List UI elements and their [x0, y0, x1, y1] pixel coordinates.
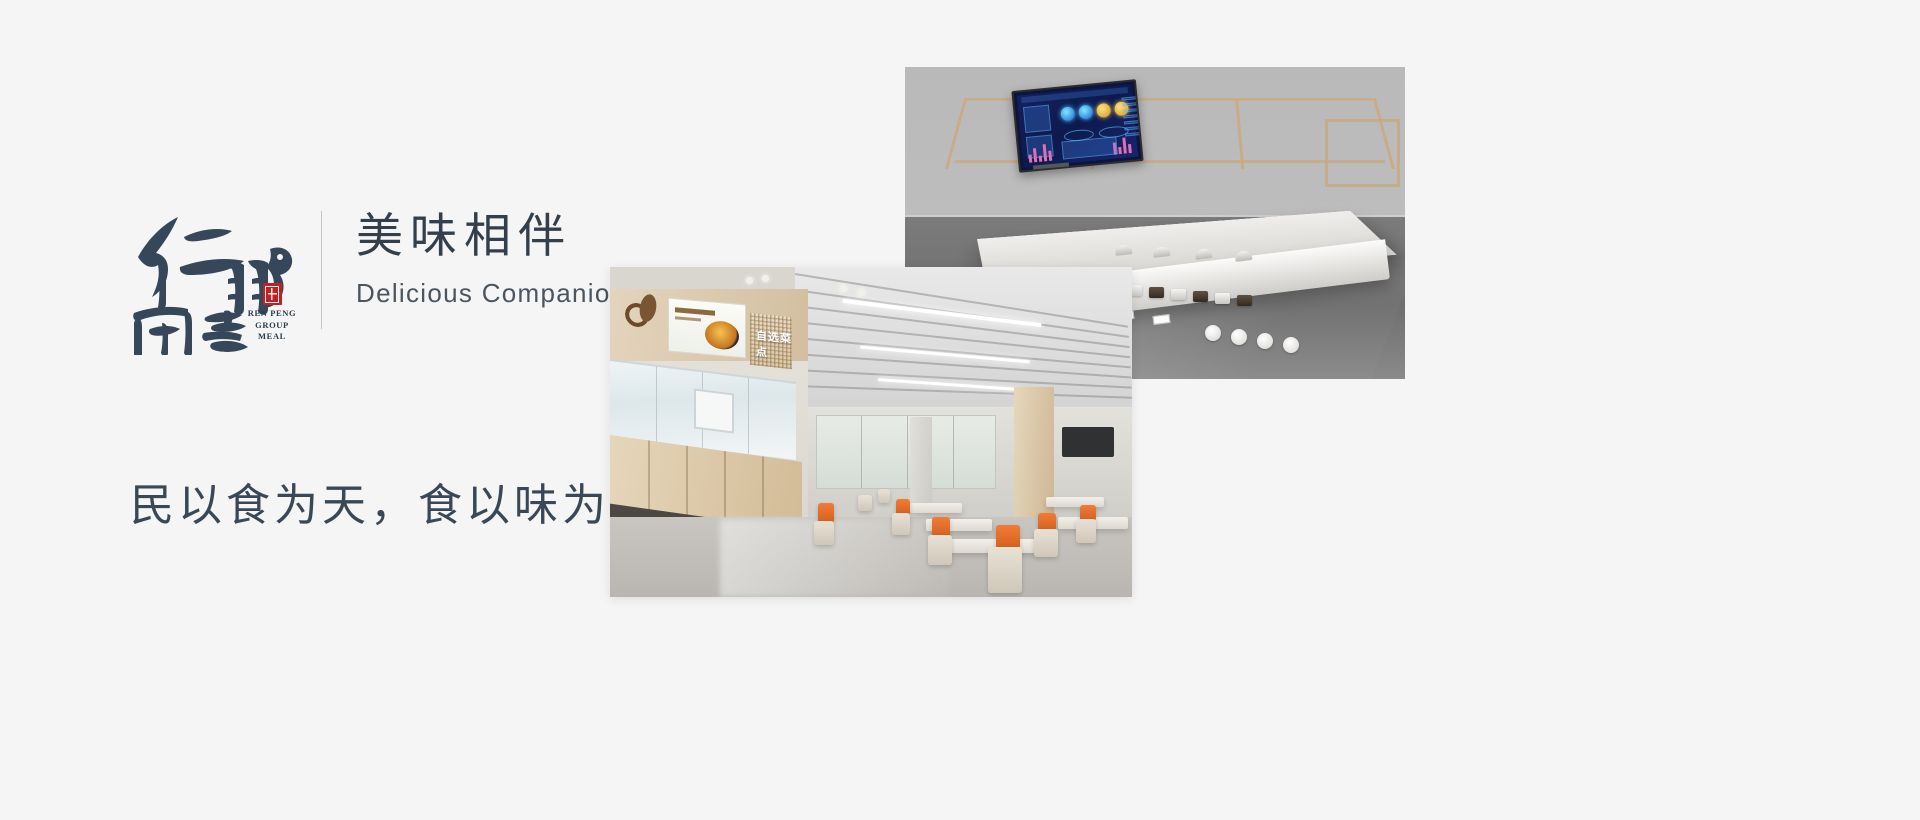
- brand-logo: REN PENG GROUP MEAL: [128, 205, 293, 355]
- red-seal-icon: [263, 283, 282, 305]
- food-signboard: [668, 298, 746, 359]
- counter-dish-8: [1237, 295, 1252, 306]
- dashboard-bar-chart-left: [1028, 143, 1053, 163]
- counter-dish-4: [1149, 287, 1164, 298]
- dining-chair: [932, 517, 950, 537]
- dining-chair: [892, 513, 910, 535]
- dashboard-orb-2: [1078, 105, 1093, 120]
- downlight-3: [746, 277, 753, 284]
- stacked-plate-1: [1205, 325, 1221, 341]
- dining-chair: [858, 495, 872, 511]
- dashboard-orb-1: [1060, 106, 1075, 121]
- dining-chair: [814, 521, 834, 545]
- counter-dish-7: [1215, 293, 1230, 304]
- pergola-right-frame: [1325, 119, 1400, 187]
- dashboard-left-panel: [1023, 105, 1051, 133]
- downlight-4: [762, 275, 769, 282]
- stacked-plate-3: [1257, 333, 1273, 349]
- dashboard-orb-3: [1096, 103, 1111, 118]
- signboard-subtitle-block: [675, 316, 701, 321]
- dining-chair: [818, 503, 834, 523]
- headline-slogan: 民以食为天，食以味为先: [130, 478, 658, 534]
- logo-caption-line-1: REN PENG: [246, 308, 298, 320]
- dashboard-title-bar: [1021, 87, 1128, 103]
- logo-caption: REN PENG GROUP MEAL: [246, 283, 298, 343]
- downlight-2: [858, 289, 865, 296]
- dining-chair: [928, 535, 952, 565]
- counter-dish-6: [1193, 291, 1208, 302]
- floor-reflection: [720, 519, 950, 597]
- stacked-plate-2: [1231, 329, 1247, 345]
- stacked-plate-4: [1283, 337, 1299, 353]
- dashboard-screen: [1011, 79, 1143, 173]
- signboard-dish-photo: [705, 320, 739, 351]
- stall-signage-cn: 自选菜点: [756, 327, 792, 361]
- wall-poster-frame: [694, 389, 734, 434]
- marketing-banner: REN PENG GROUP MEAL 美味相伴 Delicious Compa…: [0, 0, 1920, 820]
- tagline-cn: 美味相伴: [356, 207, 679, 265]
- dining-chair: [878, 489, 890, 503]
- cafeteria-interior-photo: 自选菜点: [610, 267, 1132, 597]
- brand-row: REN PENG GROUP MEAL 美味相伴 Delicious Compa…: [128, 205, 679, 355]
- signboard-title-block: [675, 307, 715, 315]
- vertical-divider-icon: [321, 211, 322, 329]
- dining-chair: [1034, 529, 1058, 557]
- downlight-1: [840, 285, 847, 292]
- logo-caption-line-2: GROUP: [246, 320, 298, 332]
- dining-chair: [988, 547, 1022, 593]
- dashboard-ui: [1017, 85, 1138, 168]
- dining-table: [910, 503, 962, 513]
- counter-dish-5: [1171, 289, 1186, 300]
- wall-tv-icon: [1062, 427, 1114, 457]
- dashboard-bottom-table: [1061, 136, 1117, 159]
- dining-chair: [1076, 519, 1096, 543]
- logo-caption-line-3: MEAL: [246, 331, 298, 343]
- dining-chair: [996, 525, 1020, 549]
- back-window: [816, 415, 996, 489]
